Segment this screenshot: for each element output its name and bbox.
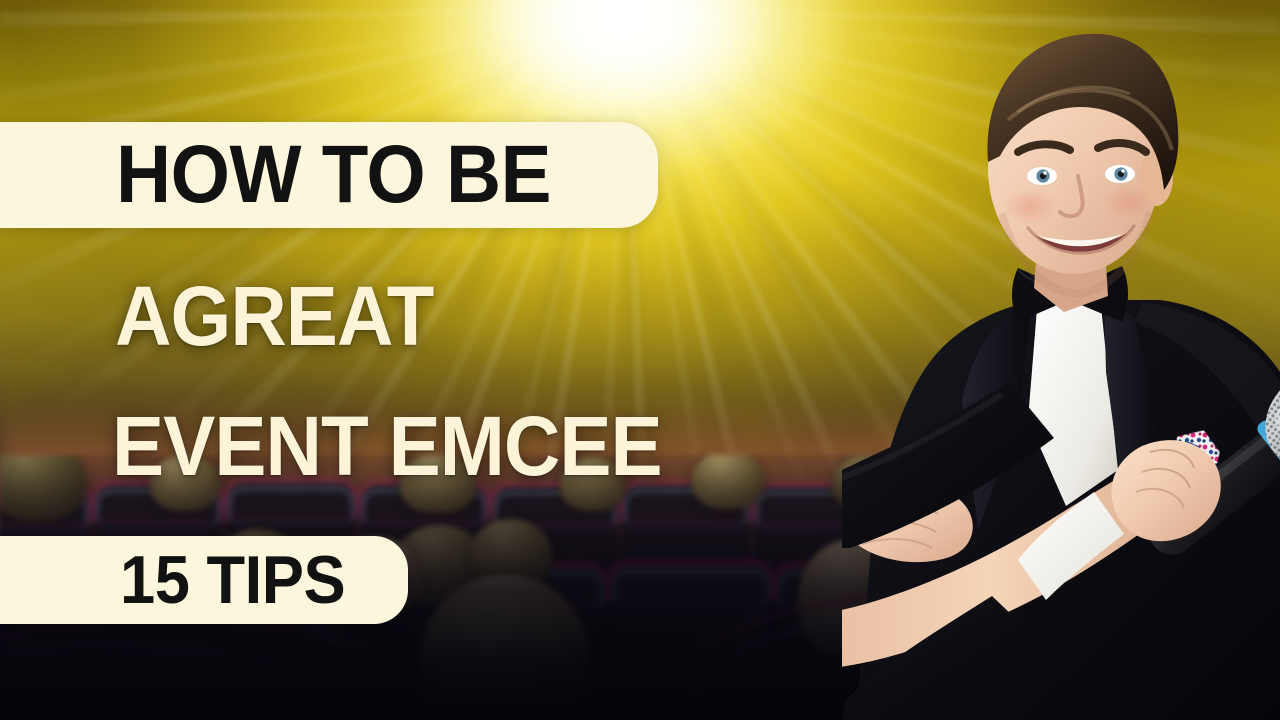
emcee-figure (842, 0, 1280, 720)
headline-pill-line1: HOW TO BE (0, 122, 658, 228)
emcee-illustration (842, 0, 1280, 720)
emcee-head (987, 34, 1178, 294)
tips-badge-text: 15 TIPS (120, 541, 345, 619)
headline-line2-text: AGREAT (115, 268, 433, 365)
headline-line3-text: EVENT EMCEE (112, 398, 662, 495)
tips-badge: 15 TIPS (0, 536, 408, 624)
headline-line1-text: HOW TO BE (116, 128, 551, 222)
video-thumbnail: HOW TO BE AGREAT EVENT EMCEE 15 TIPS (0, 0, 1280, 720)
